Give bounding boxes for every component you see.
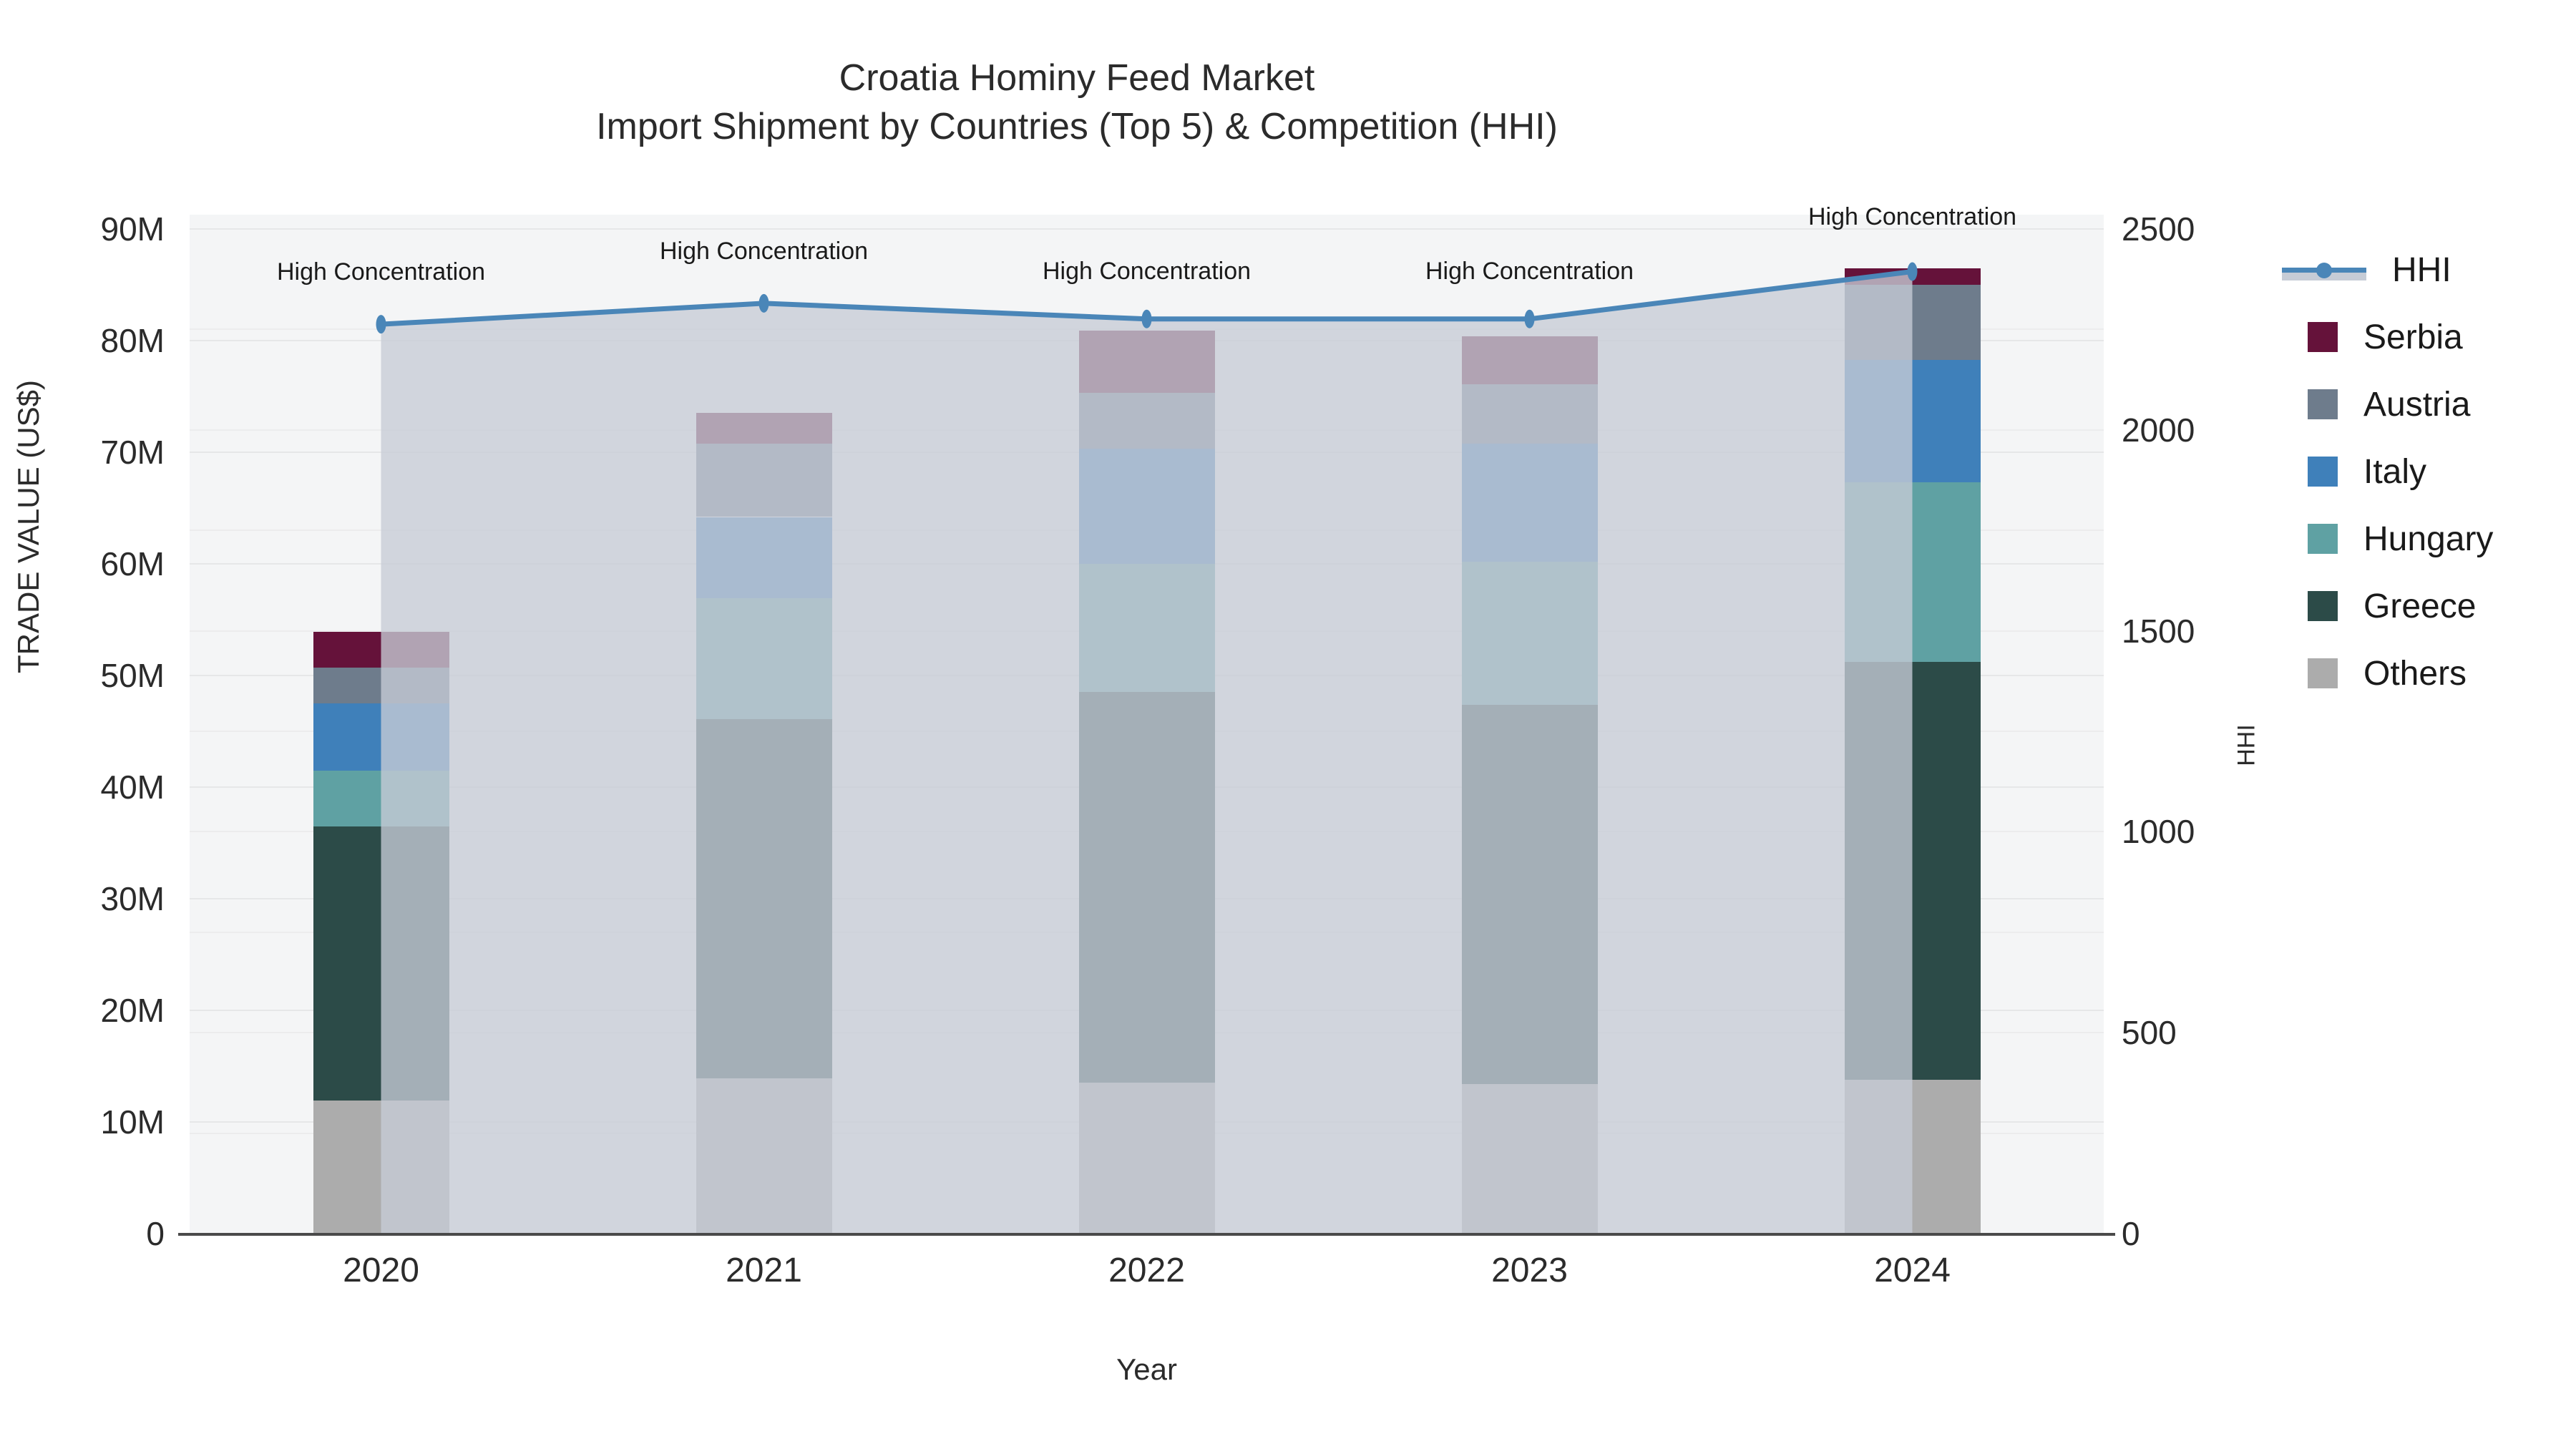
hhi-annotation: High Concentration [1727,203,2099,231]
legend-item-hhi[interactable]: HHI [2279,236,2565,303]
legend-swatch-icon [2308,658,2338,688]
legend-item-label: Italy [2363,452,2426,492]
legend-item-label: Hungary [2363,519,2493,559]
hhi-area-fill [381,272,1913,1234]
y-axis-right-title: HHI [2233,674,2261,817]
y-axis-left-title: TRADE VALUE (US$) [11,326,46,727]
x-axis-tick-label: 2020 [274,1251,489,1290]
y-axis-left-tick [178,1233,191,1236]
x-axis-tick-label: 2024 [1805,1251,2020,1290]
hhi-annotation: High Concentration [578,238,950,265]
legend-swatch-icon [2308,591,2338,621]
legend-item-label: HHI [2392,250,2451,290]
hhi-annotation: High Concentration [195,258,567,286]
y-axis-right-tick-label: 0 [2122,1214,2308,1253]
hhi-data-point[interactable] [1525,310,1535,328]
y-axis-left-tick-label: 90M [7,210,165,248]
x-axis-title: Year [190,1352,2104,1387]
hhi-data-point[interactable] [1142,310,1152,328]
hhi-annotation: High Concentration [961,258,1333,286]
legend-line-dot [2316,263,2332,278]
legend-item-greece[interactable]: Greece [2279,572,2565,640]
x-axis-tick-label: 2023 [1423,1251,1637,1290]
chart-figure: Croatia Hominy Feed Market Import Shipme… [0,0,2576,1449]
legend-item-hungary[interactable]: Hungary [2279,505,2565,572]
legend-item-label: Others [2363,654,2467,693]
y-axis-right-tick [2102,1233,2115,1236]
legend-item-label: Austria [2363,385,2470,424]
y-axis-left-tick-label: 20M [7,991,165,1030]
x-axis-tick-label: 2021 [657,1251,872,1290]
y-axis-right-tick-label: 1000 [2122,812,2308,851]
legend-item-austria[interactable]: Austria [2279,371,2565,438]
chart-title: Croatia Hominy Feed Market Import Shipme… [0,54,2154,151]
chart-legend: HHISerbiaAustriaItalyHungaryGreeceOthers [2279,236,2565,707]
y-axis-left-tick-label: 10M [7,1103,165,1141]
legend-swatch-icon [2308,389,2338,419]
legend-item-others[interactable]: Others [2279,640,2565,707]
y-axis-left-tick-label: 40M [7,768,165,806]
y-axis-left-tick-label: 30M [7,879,165,918]
x-axis-tick-label: 2022 [1040,1251,1254,1290]
chart-title-line-1: Croatia Hominy Feed Market [0,54,2154,103]
legend-item-serbia[interactable]: Serbia [2279,303,2565,371]
hhi-line-series [190,229,2104,1234]
legend-item-label: Serbia [2363,318,2463,357]
hhi-data-point[interactable] [376,315,386,333]
y-axis-left-tick-label: 0 [7,1214,165,1253]
y-axis-right-tick-label: 500 [2122,1013,2308,1052]
legend-swatch-icon [2308,524,2338,554]
legend-swatch-icon [2308,322,2338,352]
hhi-data-point[interactable] [759,294,769,313]
hhi-annotation: High Concentration [1344,258,1716,286]
legend-item-italy[interactable]: Italy [2279,438,2565,505]
x-axis-line [190,1233,2104,1236]
hhi-data-point[interactable] [1908,263,1918,281]
legend-item-label: Greece [2363,587,2476,626]
plot-area [190,215,2104,1234]
legend-swatch-icon [2308,457,2338,487]
legend-line-marker-icon [2282,255,2366,285]
plot-inner [190,229,2104,1234]
chart-title-line-2: Import Shipment by Countries (Top 5) & C… [0,103,2154,152]
